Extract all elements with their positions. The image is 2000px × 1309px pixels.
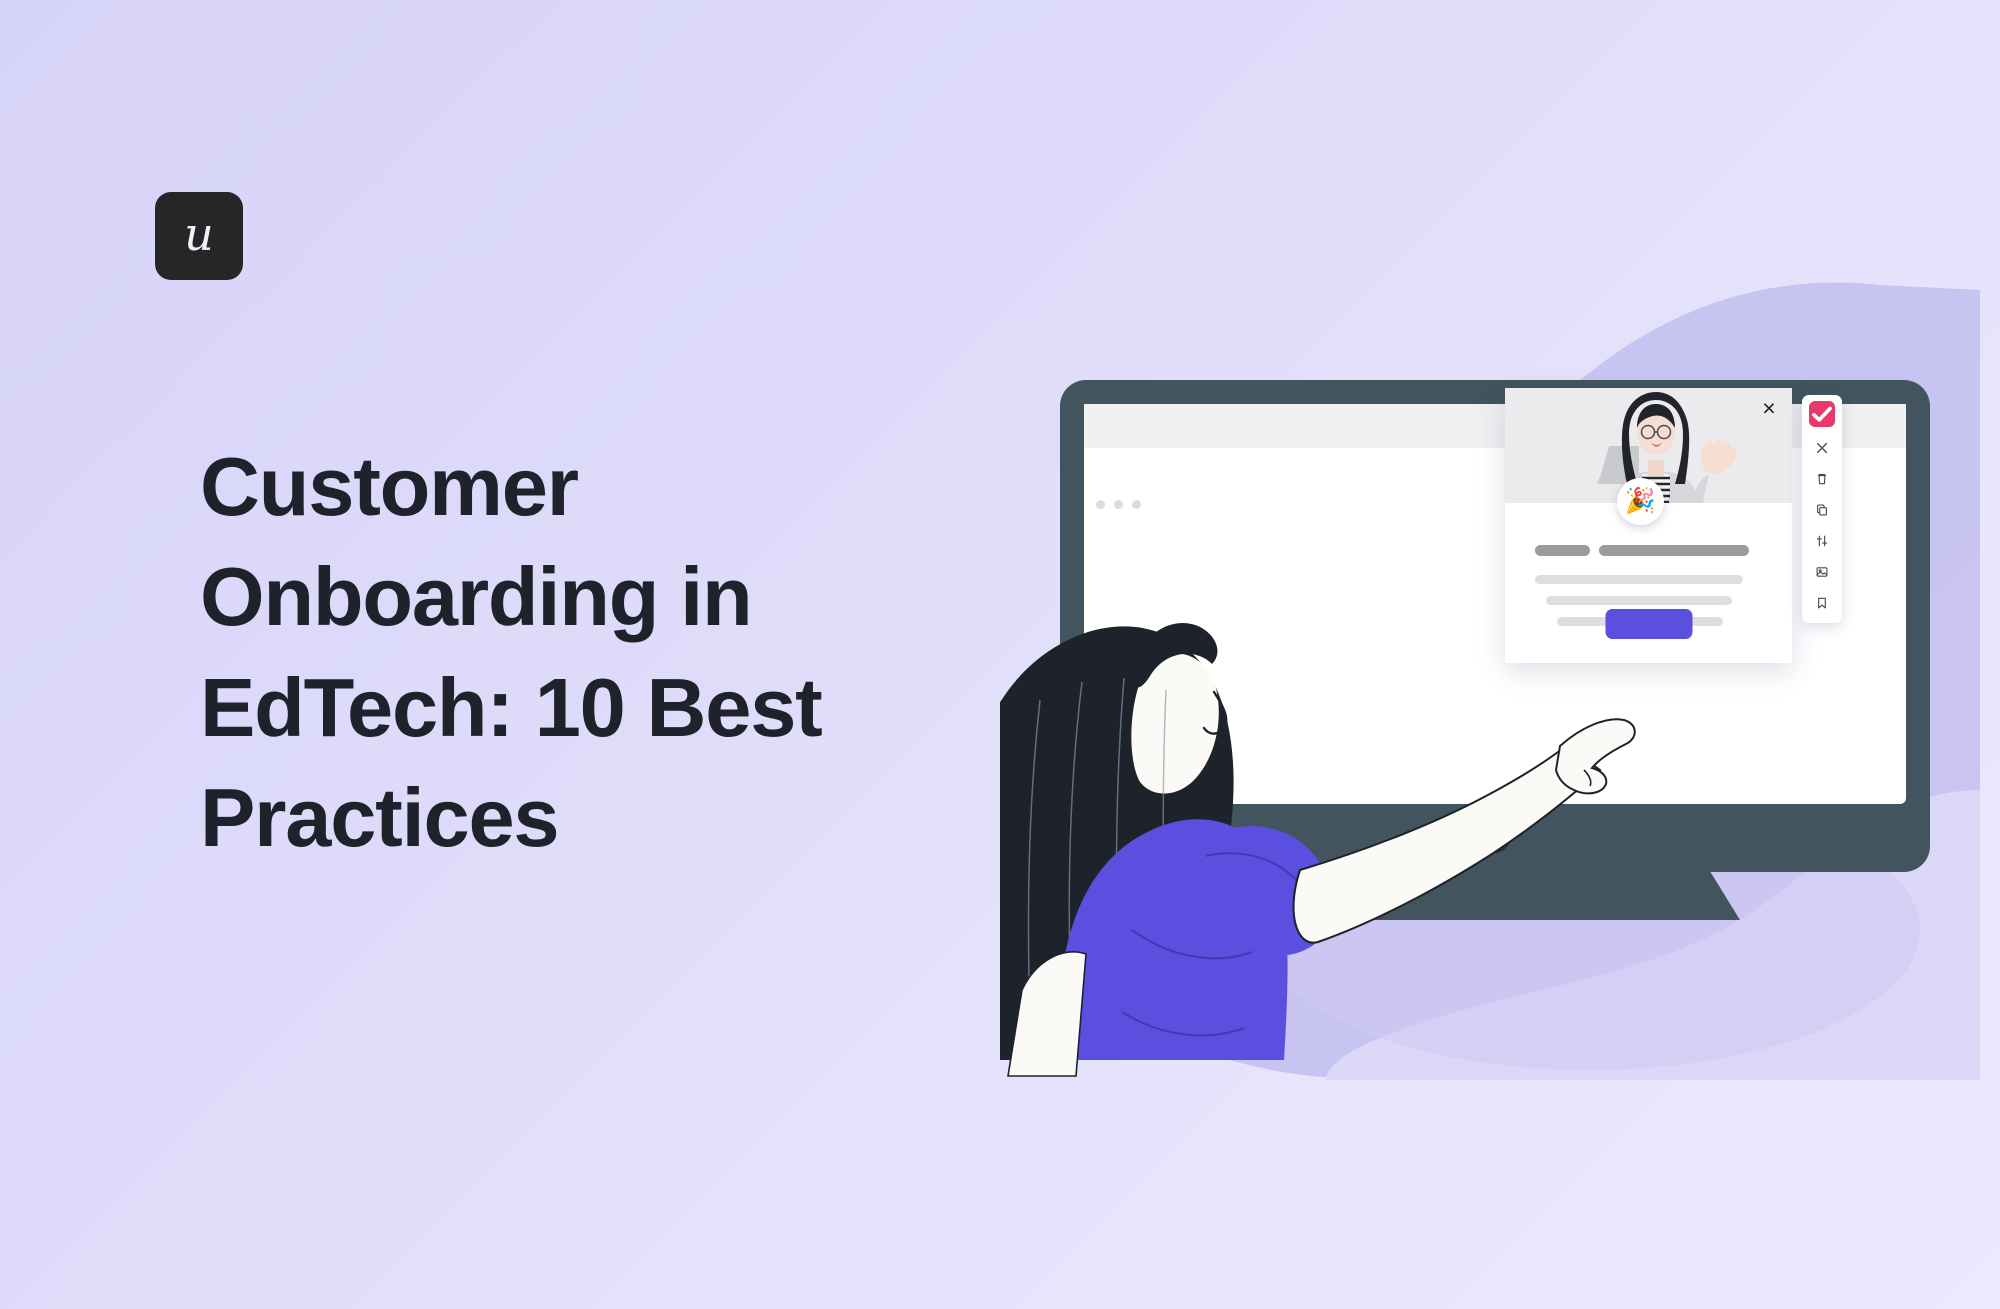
userpilot-logo-icon: u — [184, 211, 214, 257]
browser-titlebar — [1084, 404, 1906, 448]
page-title: Customer Onboarding in EdTech: 10 Best P… — [200, 432, 920, 874]
illustration-canvas — [1000, 230, 2000, 1080]
brand-logo[interactable]: u — [155, 192, 243, 280]
hero-illustration: × 🎉 — [1000, 230, 2000, 1080]
